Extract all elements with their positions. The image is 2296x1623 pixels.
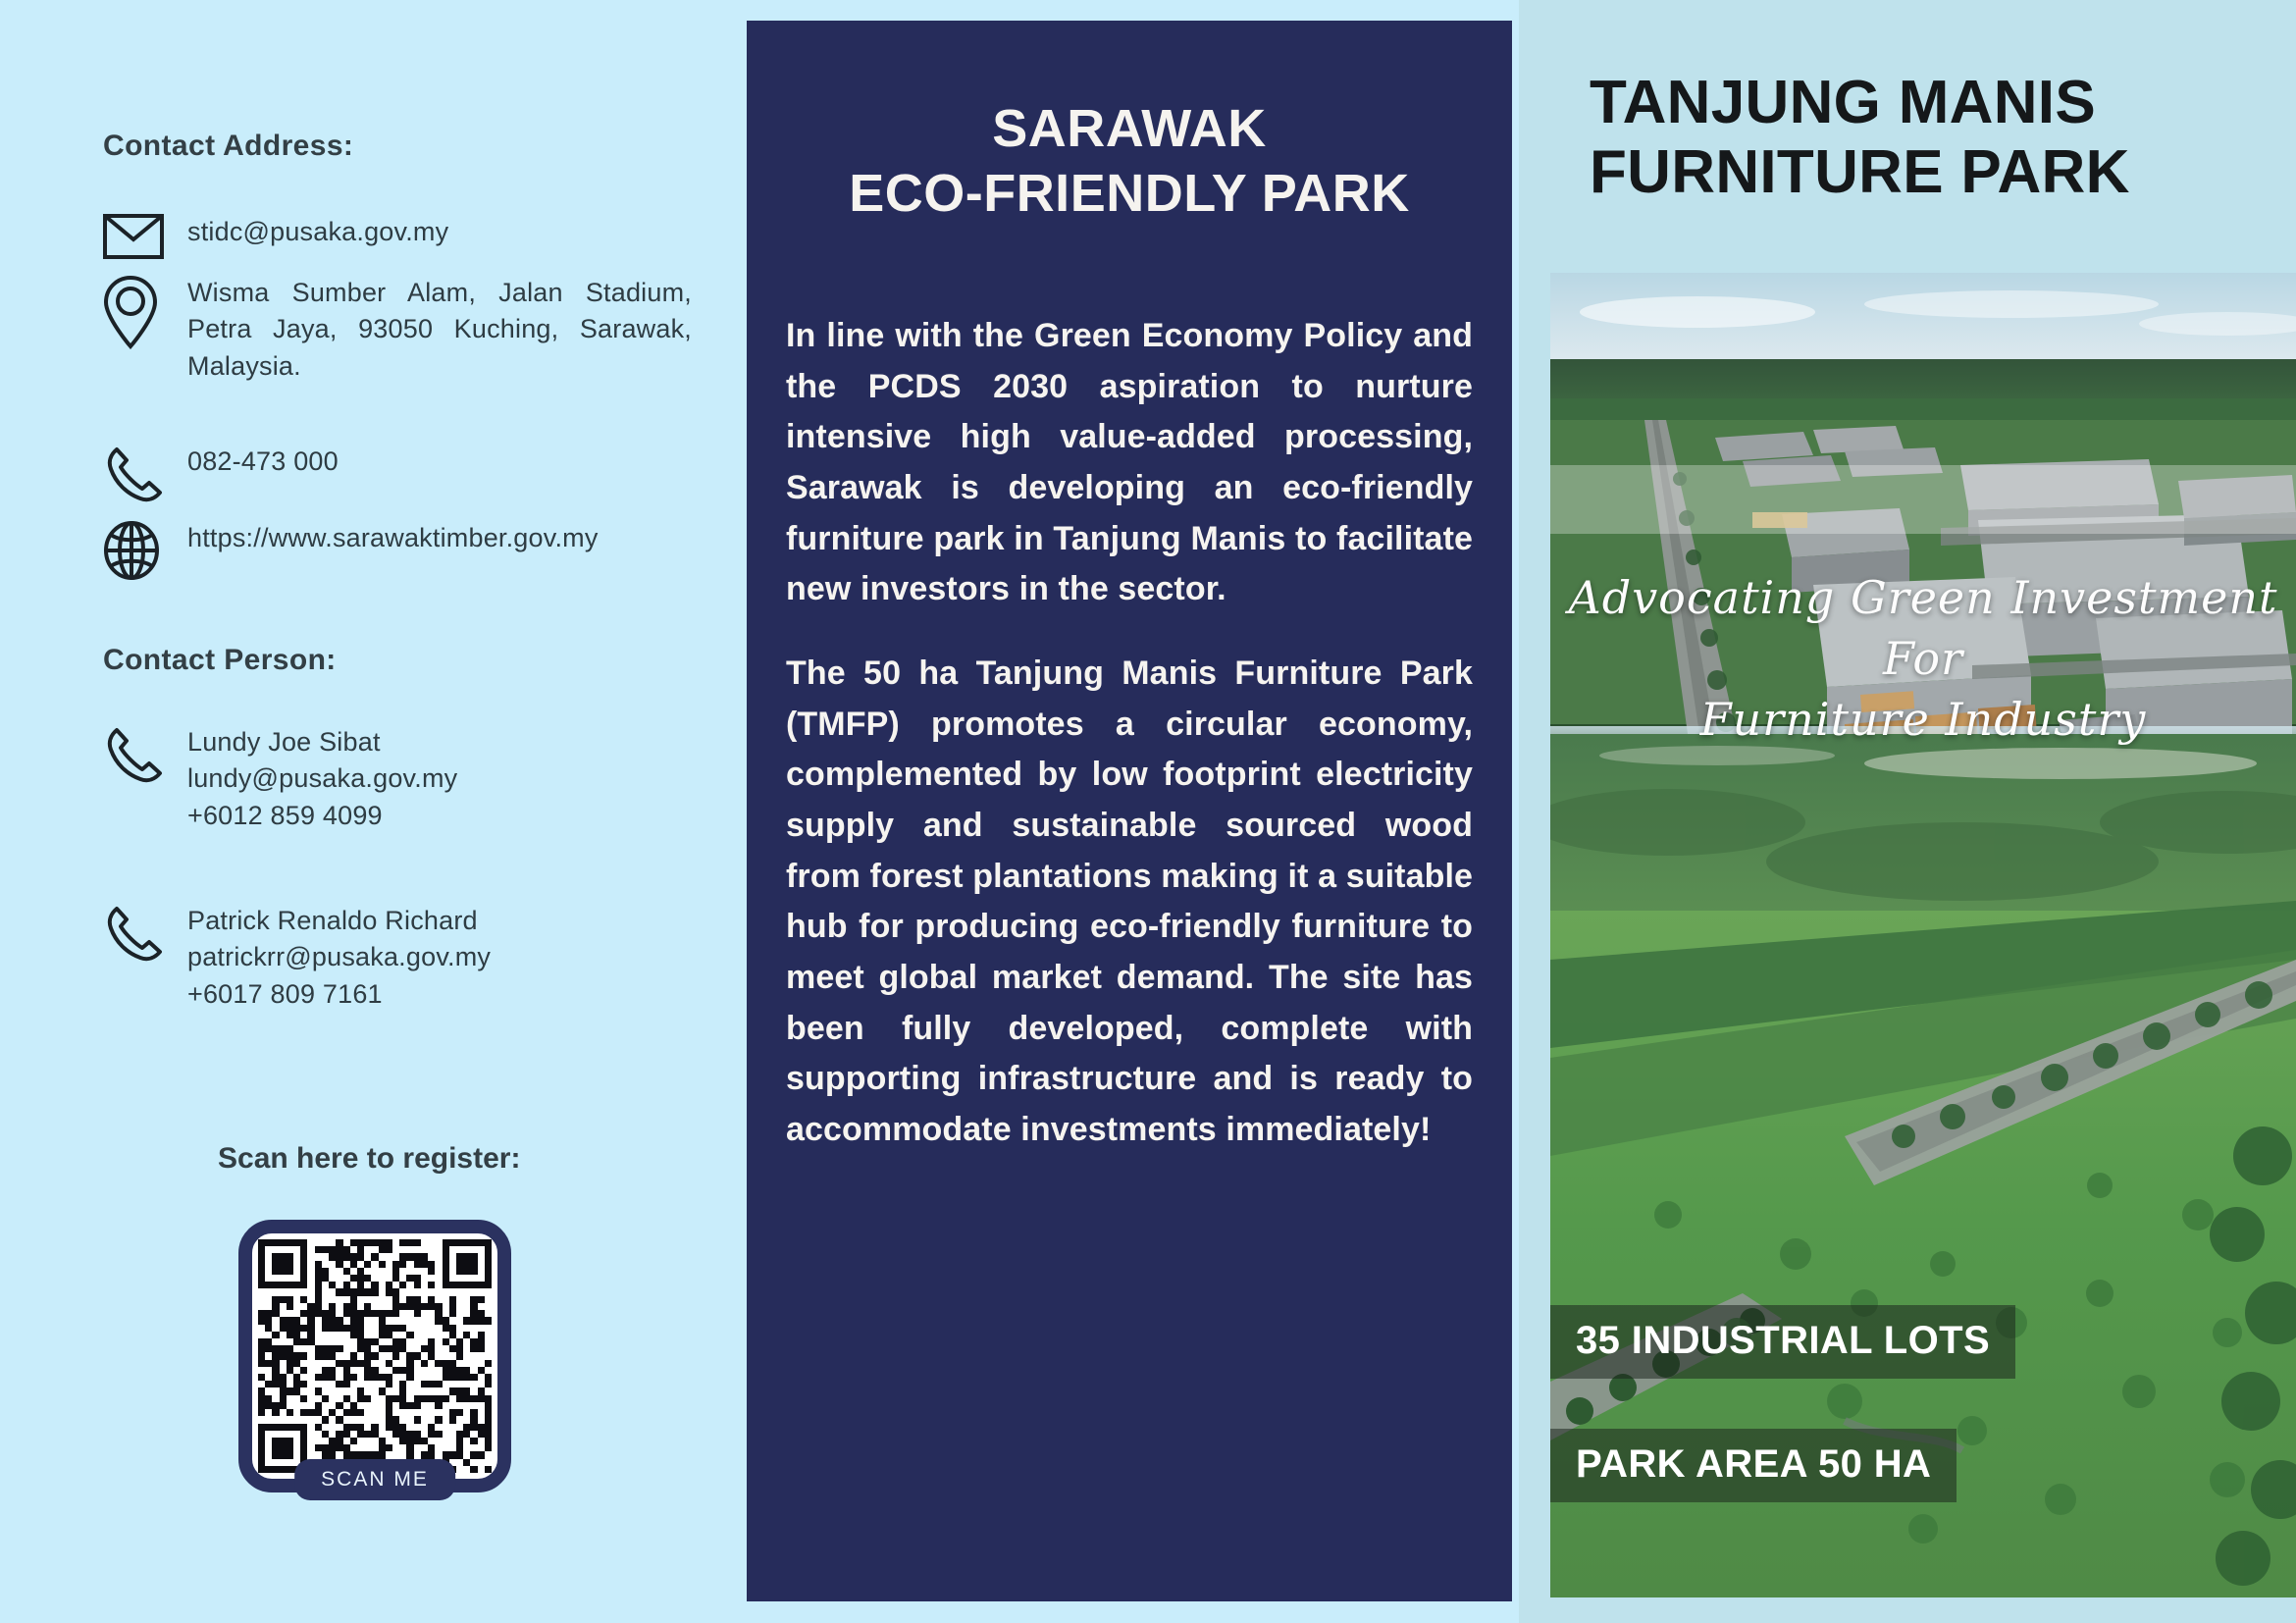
- center-title-line1: SARAWAK: [747, 97, 1512, 162]
- center-title: SARAWAK ECO-FRIENDLY PARK: [747, 97, 1512, 227]
- qr-code-block[interactable]: SCAN ME: [238, 1220, 511, 1492]
- contact-website-row[interactable]: https://www.sarawaktimber.gov.my: [103, 520, 692, 581]
- contact-phone-row[interactable]: 082-473 000: [103, 444, 692, 504]
- center-body: In line with the Green Economy Policy an…: [786, 311, 1473, 1156]
- person-phone[interactable]: +6012 859 4099: [187, 801, 383, 830]
- location-pin-icon: [103, 275, 187, 349]
- contact-person-2[interactable]: Patrick Renaldo Richard patrickrr@pusaka…: [103, 903, 692, 1013]
- contact-website-text[interactable]: https://www.sarawaktimber.gov.my: [187, 520, 692, 556]
- scan-me-badge: SCAN ME: [294, 1459, 455, 1500]
- contact-address-section: Contact Address:: [103, 130, 692, 163]
- photo-haze-band: [1550, 465, 2296, 534]
- qr-title: Scan here to register:: [218, 1142, 807, 1176]
- phone-icon: [103, 444, 187, 504]
- person-name: Lundy Joe Sibat: [187, 727, 381, 757]
- contact-email-row[interactable]: stidc@pusaka.gov.my: [103, 214, 692, 259]
- photo-tagline-line2: Furniture Industry: [1550, 689, 2296, 750]
- envelope-icon: [103, 214, 187, 259]
- contact-address-heading: Contact Address:: [103, 130, 692, 163]
- center-title-line2: ECO-FRIENDLY PARK: [747, 162, 1512, 227]
- label-industrial-lots: 35 INDUSTRIAL LOTS: [1550, 1305, 2015, 1379]
- person-email[interactable]: patrickrr@pusaka.gov.my: [187, 942, 491, 971]
- contact-address-row[interactable]: Wisma Sumber Alam, Jalan Stadium, Petra …: [103, 275, 692, 385]
- contact-person-2-details: Patrick Renaldo Richard patrickrr@pusaka…: [187, 903, 692, 1013]
- right-title-line1: TANJUNG MANIS: [1590, 69, 2296, 138]
- label-park-area: PARK AREA 50 HA: [1550, 1429, 1957, 1502]
- brochure-page: Contact Address: stidc@pusaka.gov.my Wis…: [0, 0, 2296, 1623]
- center-navy-card: SARAWAK ECO-FRIENDLY PARK In line with t…: [747, 21, 1512, 1601]
- photo-tagline-line1: Advocating Green Investment For: [1550, 567, 2296, 689]
- person-phone[interactable]: +6017 809 7161: [187, 979, 383, 1009]
- qr-code-icon[interactable]: SCAN ME: [238, 1220, 511, 1492]
- center-paragraph-2: The 50 ha Tanjung Manis Furniture Park (…: [786, 649, 1473, 1156]
- contact-person-heading: Contact Person:: [103, 644, 692, 677]
- contact-person-section: Contact Person:: [103, 644, 692, 677]
- qr-code-matrix: [258, 1239, 492, 1473]
- contact-person-1[interactable]: Lundy Joe Sibat lundy@pusaka.gov.my +601…: [103, 724, 692, 834]
- person-name: Patrick Renaldo Richard: [187, 906, 478, 935]
- phone-icon: [103, 903, 187, 964]
- contact-email-text: stidc@pusaka.gov.my: [187, 214, 692, 250]
- aerial-photo: Advocating Green Investment For Furnitur…: [1550, 273, 2296, 1597]
- globe-icon: [103, 520, 187, 581]
- phone-icon: [103, 724, 187, 785]
- photo-tagline: Advocating Green Investment For Furnitur…: [1550, 567, 2296, 750]
- center-paragraph-1: In line with the Green Economy Policy an…: [786, 311, 1473, 615]
- contact-address-text: Wisma Sumber Alam, Jalan Stadium, Petra …: [187, 275, 692, 385]
- person-email[interactable]: lundy@pusaka.gov.my: [187, 763, 457, 793]
- right-title-line2: FURNITURE PARK: [1590, 138, 2296, 208]
- right-title: TANJUNG MANIS FURNITURE PARK: [1590, 69, 2296, 207]
- contact-person-1-details: Lundy Joe Sibat lundy@pusaka.gov.my +601…: [187, 724, 692, 834]
- qr-title-label: Scan here to register:: [218, 1142, 807, 1176]
- contact-phone-text: 082-473 000: [187, 444, 692, 480]
